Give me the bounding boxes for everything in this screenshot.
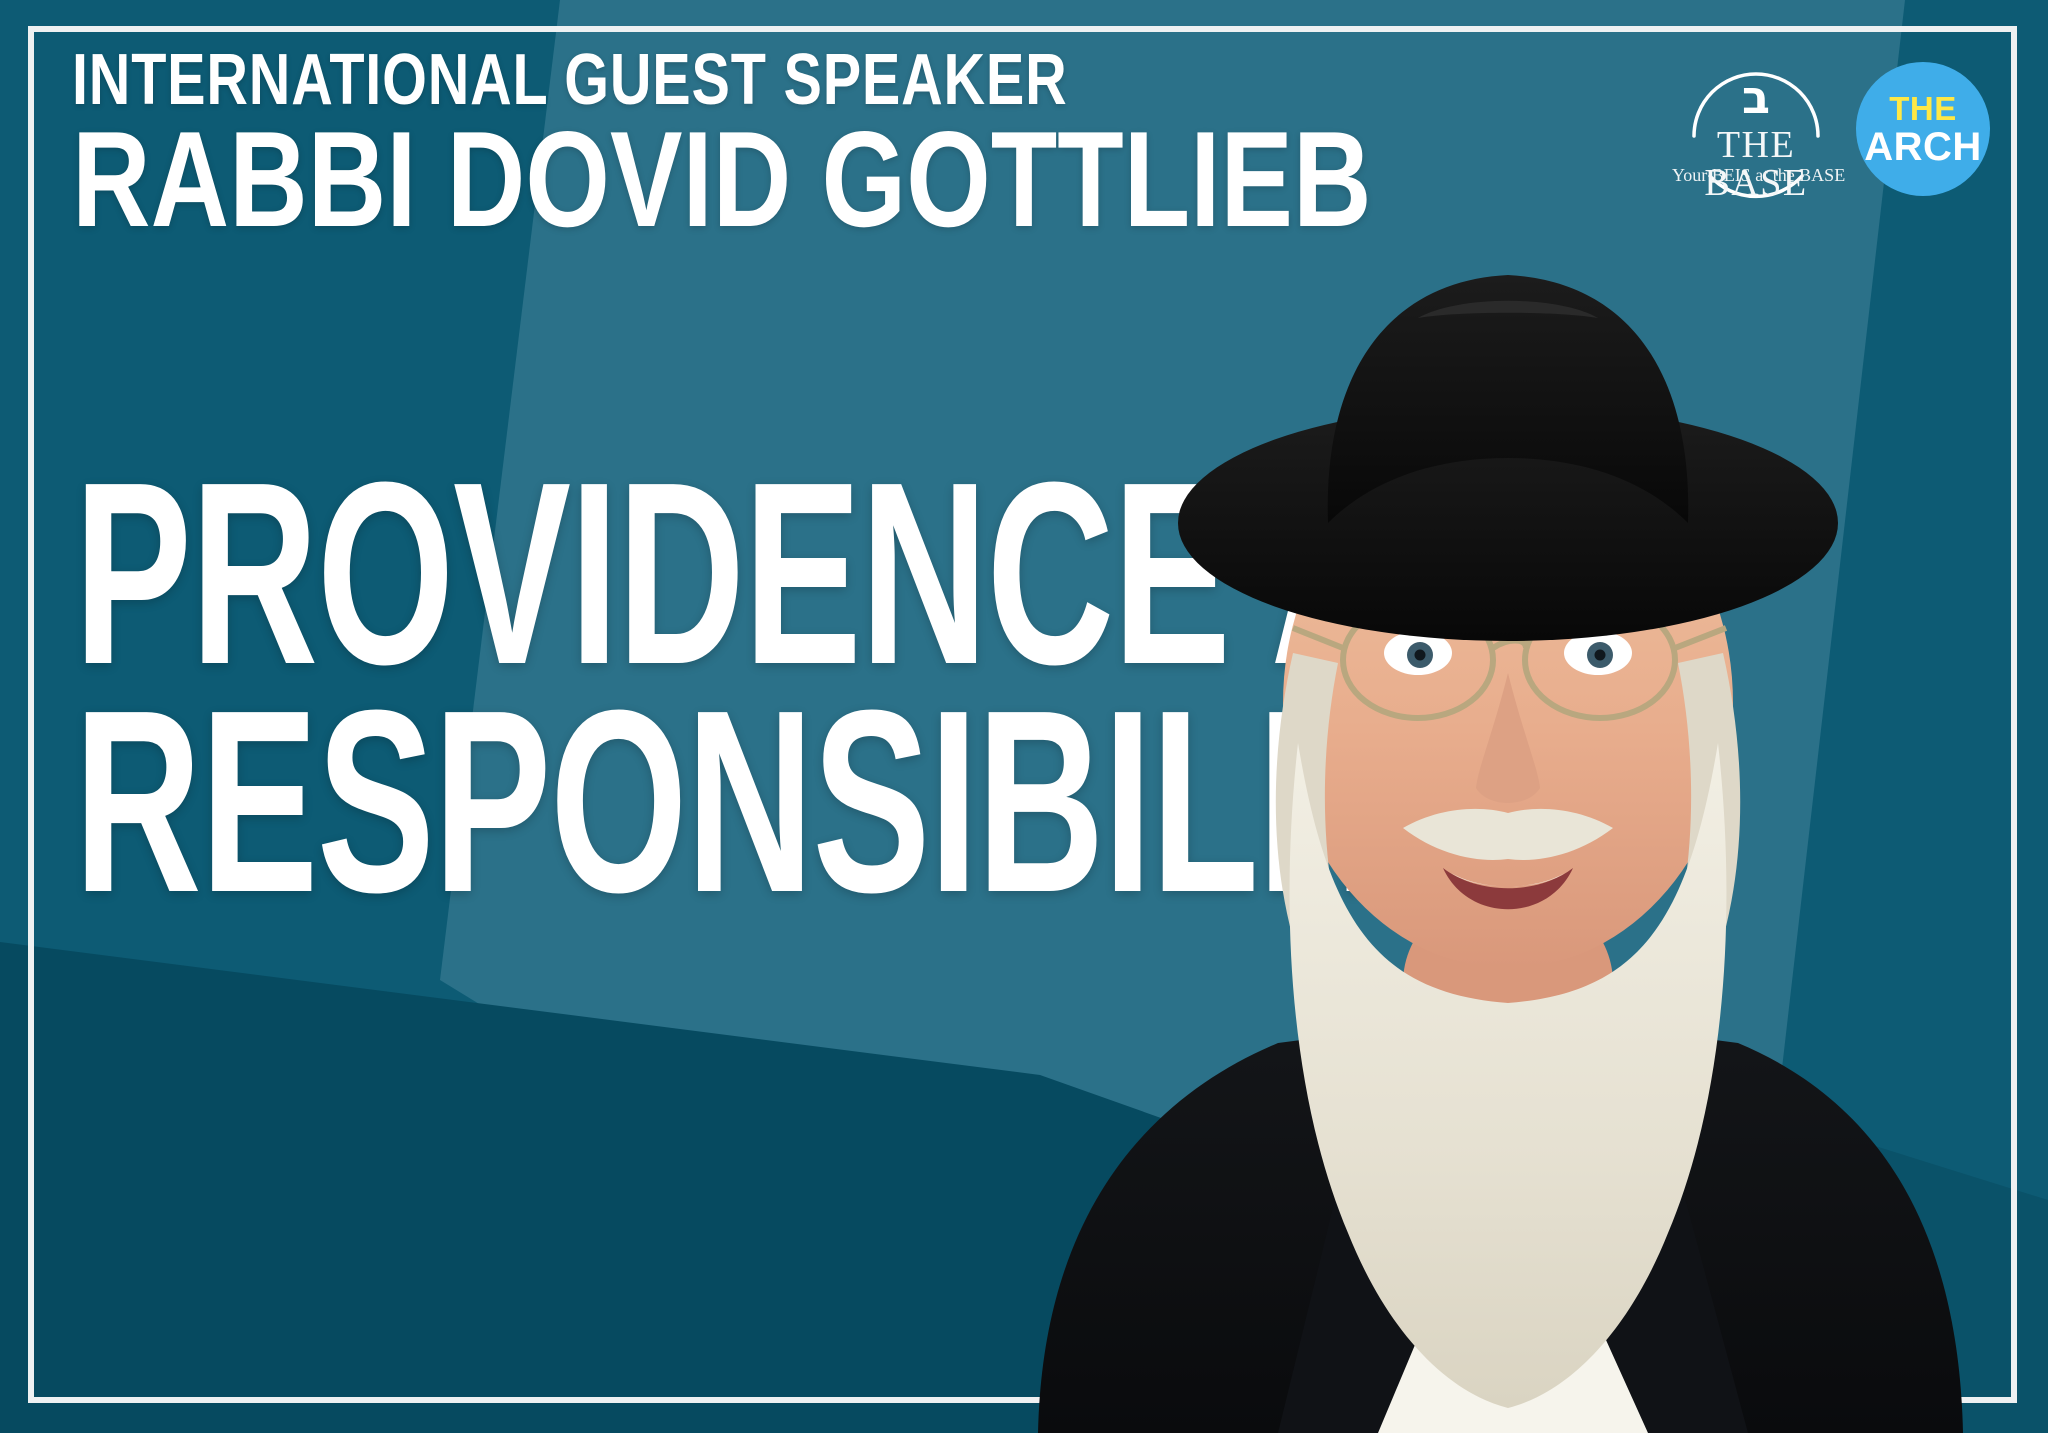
arch-logo-line-1: THE — [1889, 92, 1957, 125]
title-line-1: PROVIDENCE AND — [74, 470, 999, 678]
hebrew-beis-letter-icon: ב — [1672, 74, 1840, 120]
the-arch-logo[interactable]: THE ARCH — [1856, 62, 1990, 196]
event-flyer: INTERNATIONAL GUEST SPEAKER RABBI DOVID … — [0, 0, 2048, 1433]
speaker-name: RABBI DOVID GOTTLIEB — [72, 117, 1144, 242]
base-logo-name: THE BASE — [1672, 126, 1840, 202]
arch-logo-line-2: ARCH — [1864, 127, 1982, 167]
base-logo-tagline: Your BEIS at the BASE — [1672, 166, 1840, 184]
main-title-block: PROVIDENCE AND RESPONSIBILITY — [74, 470, 1434, 906]
the-base-logo[interactable]: ב THE BASE Your BEIS at the BASE — [1672, 58, 1840, 200]
headline-block: INTERNATIONAL GUEST SPEAKER RABBI DOVID … — [72, 46, 1412, 242]
logo-group: ב THE BASE Your BEIS at the BASE THE ARC… — [1672, 58, 1990, 200]
title-line-2: RESPONSIBILITY — [74, 698, 999, 906]
